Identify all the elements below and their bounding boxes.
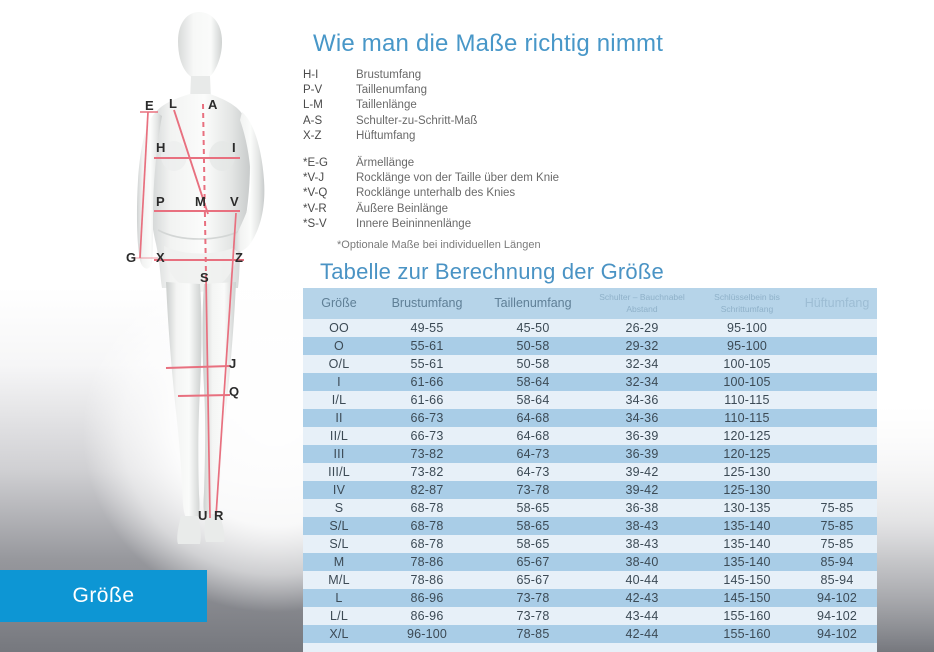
table-cell: II <box>303 409 375 427</box>
table-cell: 58-64 <box>479 373 587 391</box>
measurement-legend-primary: H-I Brustumfang P-V Taillenumfang L-M Ta… <box>303 68 477 144</box>
table-cell: 55-61 <box>375 337 479 355</box>
legend-desc: Taillenlänge <box>356 98 417 113</box>
table-cell: III/L <box>303 463 375 481</box>
table-cell: 32-34 <box>587 373 697 391</box>
legend-item: *E-G Ärmellänge <box>303 156 559 171</box>
table-row: III/L73-8264-7339-42125-130 <box>303 463 877 481</box>
table-row: S68-7858-6536-38130-13575-85 <box>303 499 877 517</box>
table-cell: 36-39 <box>587 427 697 445</box>
table-cell: I/L <box>303 391 375 409</box>
table-cell <box>797 445 877 463</box>
table-row: L/L86-9673-7843-44155-16094-102 <box>303 607 877 625</box>
table-row: X/L96-10078-8542-44155-16094-102 <box>303 625 877 643</box>
figure-label-G: G <box>126 250 136 265</box>
table-cell: 66-73 <box>375 427 479 445</box>
table-row: L86-9673-7842-43145-15094-102 <box>303 589 877 607</box>
figure-label-H: H <box>156 140 166 155</box>
legend-item: *V-R Äußere Beinlänge <box>303 202 559 217</box>
table-cell: 55-61 <box>375 355 479 373</box>
table-cell: 145-150 <box>697 571 797 589</box>
col-header-schluesselbein: Schlüsselbein bis Schrittumfang <box>697 288 797 319</box>
table-cell: 75-85 <box>797 517 877 535</box>
mannequin-figure: E L A H I P M V G X Z S J Q U R <box>118 8 318 553</box>
legend-code: L-M <box>303 98 356 113</box>
table-cell: O <box>303 337 375 355</box>
table-cell: 42-44 <box>587 625 697 643</box>
figure-label-M: M <box>195 194 206 209</box>
legend-code: *S-V <box>303 217 356 232</box>
legend-item: *V-Q Rocklänge unterhalb des Knies <box>303 186 559 201</box>
table-cell: 75-85 <box>797 535 877 553</box>
table-cell <box>797 409 877 427</box>
table-cell: 58-65 <box>479 517 587 535</box>
legend-desc: Hüftumfang <box>356 129 415 144</box>
table-cell: 64-68 <box>479 409 587 427</box>
legend-item: *V-J Rocklänge von der Taille über dem K… <box>303 171 559 186</box>
table-header-row: Größe Brustumfang Taillenumfang Schulter… <box>303 288 877 319</box>
figure-label-U: U <box>198 508 208 523</box>
legend-desc: Schulter-zu-Schritt-Maß <box>356 114 477 129</box>
table-cell: 120-125 <box>697 427 797 445</box>
table-cell: 66-73 <box>375 409 479 427</box>
table-cell-empty <box>479 643 587 652</box>
table-cell: 120-125 <box>697 445 797 463</box>
legend-item: A-S Schulter-zu-Schritt-Maß <box>303 114 477 129</box>
table-cell: 78-85 <box>479 625 587 643</box>
table-body: OO49-5545-5026-2995-100O55-6150-5829-329… <box>303 319 877 652</box>
table-cell: II/L <box>303 427 375 445</box>
table-cell: 110-115 <box>697 391 797 409</box>
table-cell: 26-29 <box>587 319 697 337</box>
table-cell: 73-78 <box>479 481 587 499</box>
table-row: IV82-8773-7839-42125-130 <box>303 481 877 499</box>
legend-desc: Innere Beininnenlänge <box>356 217 471 232</box>
table-cell: OO <box>303 319 375 337</box>
table-cell: 32-34 <box>587 355 697 373</box>
table-cell: 58-65 <box>479 535 587 553</box>
legend-code: H-I <box>303 68 356 83</box>
table-cell: 29-32 <box>587 337 697 355</box>
table-cell: 39-42 <box>587 463 697 481</box>
table-cell: 78-86 <box>375 553 479 571</box>
table-cell <box>797 427 877 445</box>
legend-item: H-I Brustumfang <box>303 68 477 83</box>
table-cell: 145-150 <box>697 589 797 607</box>
table-cell: M/L <box>303 571 375 589</box>
table-cell: 82-87 <box>375 481 479 499</box>
figure-label-V: V <box>230 194 239 209</box>
col-header-schulter-bauchnabel: Schulter – Bauchnabel Abstand <box>587 288 697 319</box>
legend-item: *S-V Innere Beininnenlänge <box>303 217 559 232</box>
table-cell: X/L <box>303 625 375 643</box>
table-cell: 73-78 <box>479 589 587 607</box>
table-cell: 135-140 <box>697 553 797 571</box>
table-cell: S/L <box>303 535 375 553</box>
table-cell: 38-43 <box>587 517 697 535</box>
table-cell: 94-102 <box>797 589 877 607</box>
mannequin-illustration <box>118 8 318 553</box>
legend-code: *E-G <box>303 156 356 171</box>
legend-code: X-Z <box>303 129 356 144</box>
figure-label-L: L <box>169 96 177 111</box>
col-header-taillenumfang: Taillenumfang <box>479 288 587 319</box>
figure-label-E: E <box>145 98 154 113</box>
figure-label-A: A <box>208 97 218 112</box>
table-cell: S <box>303 499 375 517</box>
table-cell: 61-66 <box>375 391 479 409</box>
mannequin-head <box>178 12 222 101</box>
table-cell: L <box>303 589 375 607</box>
table-cell: 125-130 <box>697 463 797 481</box>
table-cell: M <box>303 553 375 571</box>
col-header-brustumfang: Brustumfang <box>375 288 479 319</box>
legend-code: *V-J <box>303 171 356 186</box>
table-row: O55-6150-5829-3295-100 <box>303 337 877 355</box>
table-cell <box>797 373 877 391</box>
table-row: II66-7364-6834-36110-115 <box>303 409 877 427</box>
table-cell: O/L <box>303 355 375 373</box>
mannequin-legs <box>166 282 236 544</box>
legend-desc: Äußere Beinlänge <box>356 202 448 217</box>
table-cell: 38-43 <box>587 535 697 553</box>
table-cell: 64-68 <box>479 427 587 445</box>
legend-desc: Rocklänge unterhalb des Knies <box>356 186 515 201</box>
figure-label-I: I <box>232 140 236 155</box>
table-cell: 64-73 <box>479 463 587 481</box>
table-cell-empty <box>797 643 877 652</box>
table-cell: 61-66 <box>375 373 479 391</box>
legend-code: A-S <box>303 114 356 129</box>
table-cell-empty <box>587 643 697 652</box>
table-cell-empty <box>375 643 479 652</box>
table-row: OO49-5545-5026-2995-100 <box>303 319 877 337</box>
figure-label-S: S <box>200 270 209 285</box>
table-cell: 86-96 <box>375 607 479 625</box>
table-cell: 68-78 <box>375 499 479 517</box>
col-header-groesse: Größe <box>303 288 375 319</box>
table-cell: 100-105 <box>697 373 797 391</box>
table-cell: 39-42 <box>587 481 697 499</box>
table-cell: 73-82 <box>375 445 479 463</box>
table-cell: 135-140 <box>697 517 797 535</box>
table-cell: 64-73 <box>479 445 587 463</box>
table-cell: 96-100 <box>375 625 479 643</box>
table-cell: 40-44 <box>587 571 697 589</box>
figure-label-Q: Q <box>229 384 239 399</box>
legend-desc: Taillenumfang <box>356 83 427 98</box>
legend-code: *V-Q <box>303 186 356 201</box>
table-cell <box>797 319 877 337</box>
table-cell: L/L <box>303 607 375 625</box>
table-row: I/L61-6658-6434-36110-115 <box>303 391 877 409</box>
table-header: Größe Brustumfang Taillenumfang Schulter… <box>303 288 877 319</box>
table-cell <box>797 337 877 355</box>
table-cell: 94-102 <box>797 625 877 643</box>
howto-title: Wie man die Maße richtig nimmt <box>313 30 663 58</box>
table-cell: 45-50 <box>479 319 587 337</box>
size-chart-slide: E L A H I P M V G X Z S J Q U R Wie man … <box>0 0 934 652</box>
col-header-hueftumfang: Hüftumfang <box>797 288 877 319</box>
figure-label-X: X <box>156 250 165 265</box>
table-cell: 86-96 <box>375 589 479 607</box>
table-cell: 65-67 <box>479 571 587 589</box>
size-banner-label: Größe <box>0 570 207 622</box>
figure-label-Z: Z <box>235 250 243 265</box>
table-row: II/L66-7364-6836-39120-125 <box>303 427 877 445</box>
size-banner: Größe <box>0 570 207 622</box>
table-cell: 125-130 <box>697 481 797 499</box>
table-cell: I <box>303 373 375 391</box>
table-cell-empty <box>303 643 375 652</box>
table-cell: IV <box>303 481 375 499</box>
table-cell: 68-78 <box>375 535 479 553</box>
table-cell: 78-86 <box>375 571 479 589</box>
table-cell: 73-82 <box>375 463 479 481</box>
table-cell: 38-40 <box>587 553 697 571</box>
table-cell: 155-160 <box>697 607 797 625</box>
table-cell: 73-78 <box>479 607 587 625</box>
table-row: S/L68-7858-6538-43135-14075-85 <box>303 517 877 535</box>
measurement-legend-optional: *E-G Ärmellänge *V-J Rocklänge von der T… <box>303 156 559 232</box>
table-cell: 95-100 <box>697 319 797 337</box>
table-cell: 65-67 <box>479 553 587 571</box>
table-cell <box>797 481 877 499</box>
table-cell: 130-135 <box>697 499 797 517</box>
legend-code: P-V <box>303 83 356 98</box>
legend-desc: Rocklänge von der Taille über dem Knie <box>356 171 559 186</box>
table-cell: 34-36 <box>587 409 697 427</box>
table-cell: 85-94 <box>797 571 877 589</box>
figure-label-J: J <box>229 356 237 371</box>
table-cell: 68-78 <box>375 517 479 535</box>
legend-desc: Ärmellänge <box>356 156 414 171</box>
table-cell: 95-100 <box>697 337 797 355</box>
table-cell: 36-38 <box>587 499 697 517</box>
table-row: M78-8665-6738-40135-14085-94 <box>303 553 877 571</box>
legend-item: X-Z Hüftumfang <box>303 129 477 144</box>
legend-code: *V-R <box>303 202 356 217</box>
table-cell: 50-58 <box>479 355 587 373</box>
table-cell: 94-102 <box>797 607 877 625</box>
table-cell: 135-140 <box>697 535 797 553</box>
table-cell: 155-160 <box>697 625 797 643</box>
table-cell: 49-55 <box>375 319 479 337</box>
table-cell-empty <box>697 643 797 652</box>
table-cell: 100-105 <box>697 355 797 373</box>
table-cell: 34-36 <box>587 391 697 409</box>
table-cell: 58-65 <box>479 499 587 517</box>
table-cell: 85-94 <box>797 553 877 571</box>
legend-desc: Brustumfang <box>356 68 421 83</box>
table-cell: 36-39 <box>587 445 697 463</box>
figure-label-P: P <box>156 194 165 209</box>
table-footer-spacer <box>303 643 877 652</box>
size-table: Größe Brustumfang Taillenumfang Schulter… <box>303 288 877 652</box>
table-cell: 75-85 <box>797 499 877 517</box>
table-cell <box>797 463 877 481</box>
legend-item: L-M Taillenlänge <box>303 98 477 113</box>
table-cell: 110-115 <box>697 409 797 427</box>
table-cell <box>797 391 877 409</box>
table-cell: S/L <box>303 517 375 535</box>
table-cell: 50-58 <box>479 337 587 355</box>
optional-note: *Optionale Maße bei individuellen Längen <box>337 239 541 251</box>
table-cell: 58-64 <box>479 391 587 409</box>
table-cell: III <box>303 445 375 463</box>
table-cell: 43-44 <box>587 607 697 625</box>
legend-item: P-V Taillenumfang <box>303 83 477 98</box>
figure-label-R: R <box>214 508 224 523</box>
table-row: III73-8264-7336-39120-125 <box>303 445 877 463</box>
table-cell <box>797 355 877 373</box>
table-cell: 42-43 <box>587 589 697 607</box>
table-row: S/L68-7858-6538-43135-14075-85 <box>303 535 877 553</box>
table-row: O/L55-6150-5832-34100-105 <box>303 355 877 373</box>
table-row: I61-6658-6432-34100-105 <box>303 373 877 391</box>
table-title: Tabelle zur Berechnung der Größe <box>320 259 664 285</box>
table-row: M/L78-8665-6740-44145-15085-94 <box>303 571 877 589</box>
